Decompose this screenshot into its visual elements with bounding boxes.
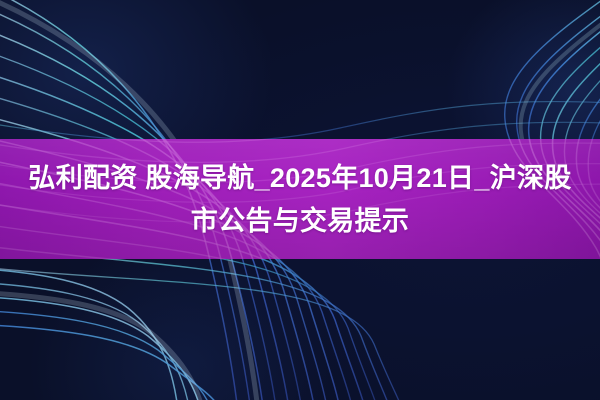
title-band — [0, 139, 600, 259]
banner-image: 弘利配资 股海导航_2025年10月21日_沪深股 市公告与交易提示 — [0, 0, 600, 400]
title-band-wave-overlay — [0, 139, 600, 259]
